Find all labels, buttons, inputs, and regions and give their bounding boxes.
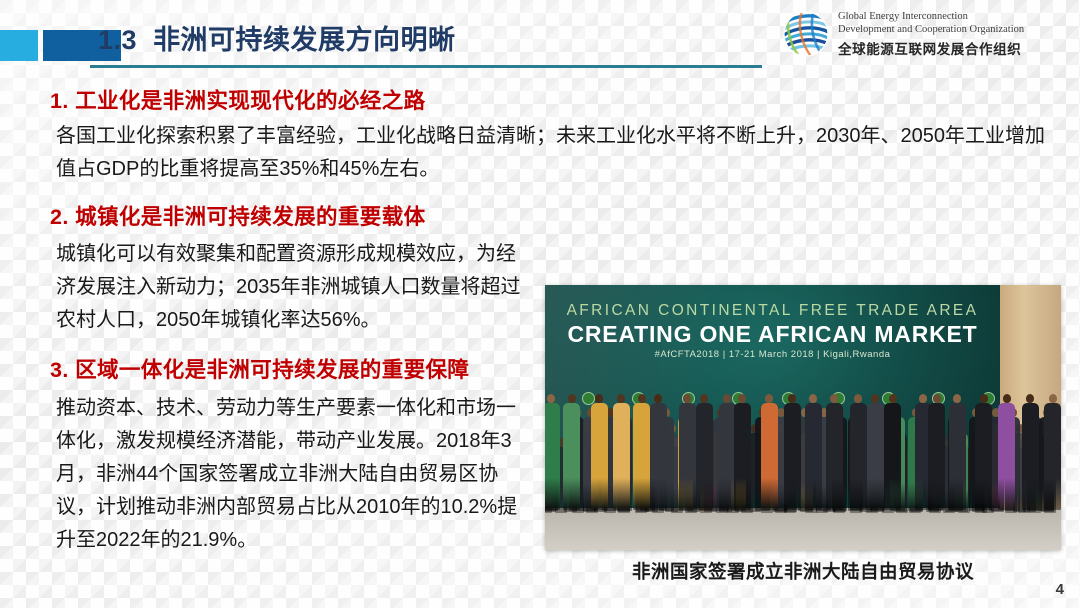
conference-photo: AFRICAN CONTINENTAL FREE TRADE AREA CREA…	[545, 285, 1061, 550]
delegate-figure	[975, 403, 992, 510]
section-heading-3: 3. 区域一体化是非洲可持续发展的重要保障	[50, 353, 469, 384]
delegate-figure	[761, 403, 778, 510]
delegate-figure	[545, 403, 560, 510]
delegate-figure	[826, 403, 843, 510]
header-divider	[90, 65, 762, 68]
delegate-figure	[650, 403, 667, 510]
photo-caption: 非洲国家签署成立非洲大陆自由贸易协议	[545, 558, 1061, 584]
delegate-figure	[949, 403, 966, 510]
logo-cn-name: 全球能源互联网发展合作组织	[838, 38, 1024, 58]
section-heading-2: 2. 城镇化是非洲可持续发展的重要载体	[50, 200, 426, 231]
delegate-figure	[679, 403, 696, 510]
page-title-number: 1.3	[98, 25, 137, 55]
logo-en-line1: Global Energy Interconnection	[838, 11, 1024, 24]
delegate-figure	[850, 403, 867, 510]
page-title: 1.3 非洲可持续发展方向明晰	[98, 18, 456, 57]
banner-line-1: AFRICAN CONTINENTAL FREE TRADE AREA	[545, 302, 1000, 320]
globe-icon	[782, 10, 830, 58]
delegate-figure	[1044, 403, 1061, 510]
logo-en-line2: Development and Cooperation Organization	[838, 24, 1024, 37]
delegate-figure	[719, 403, 736, 510]
section-heading-1: 1. 工业化是非洲实现现代化的必经之路	[50, 84, 426, 115]
stage-floor	[545, 508, 1061, 550]
section-body-2: 城镇化可以有效聚集和配置资源形成规模效应，为经济发展注入新动力；2035年非洲城…	[56, 238, 526, 337]
delegate-figure	[633, 403, 650, 510]
delegate-figure	[1022, 403, 1039, 510]
delegate-figure	[998, 403, 1015, 510]
slide-content: 1. 工业化是非洲实现现代化的必经之路 各国工业化探索积累了丰富经验，工业化战略…	[0, 78, 1080, 608]
slide-header: 1.3 非洲可持续发展方向明晰	[0, 0, 1080, 78]
page-number: 4	[1056, 581, 1064, 598]
header-decoration-square-cyan	[0, 30, 38, 61]
slide: 1.3 非洲可持续发展方向明晰	[0, 0, 1080, 608]
page-title-text: 非洲可持续发展方向明晰	[153, 25, 456, 55]
delegate-figure	[591, 403, 608, 510]
delegate-figure	[784, 403, 801, 510]
delegate-figure	[613, 403, 630, 510]
delegates-crowd	[545, 365, 1061, 513]
delegate-figure	[805, 403, 822, 510]
banner-line-3: #AfCFTA2018 | 17-21 March 2018 | Kigali,…	[545, 349, 1000, 360]
delegate-figure	[734, 403, 751, 510]
section-body-1: 各国工业化探索积累了丰富经验，工业化战略日益清晰；未来工业化水平将不断上升，20…	[56, 120, 1056, 186]
delegate-figure	[696, 403, 713, 510]
delegate-figure	[563, 403, 580, 510]
delegate-figure	[884, 403, 901, 510]
photo-container: AFRICAN CONTINENTAL FREE TRADE AREA CREA…	[545, 285, 1061, 550]
organization-logo-text: Global Energy Interconnection Developmen…	[838, 11, 1024, 58]
delegate-figure	[928, 403, 945, 510]
banner-line-2: CREATING ONE AFRICAN MARKET	[545, 321, 1000, 348]
organization-logo: Global Energy Interconnection Developmen…	[782, 8, 1072, 62]
section-body-3: 推动资本、技术、劳动力等生产要素一体化和市场一体化，激发规模经济潜能，带动产业发…	[56, 392, 526, 557]
delegate-figure	[867, 403, 884, 510]
